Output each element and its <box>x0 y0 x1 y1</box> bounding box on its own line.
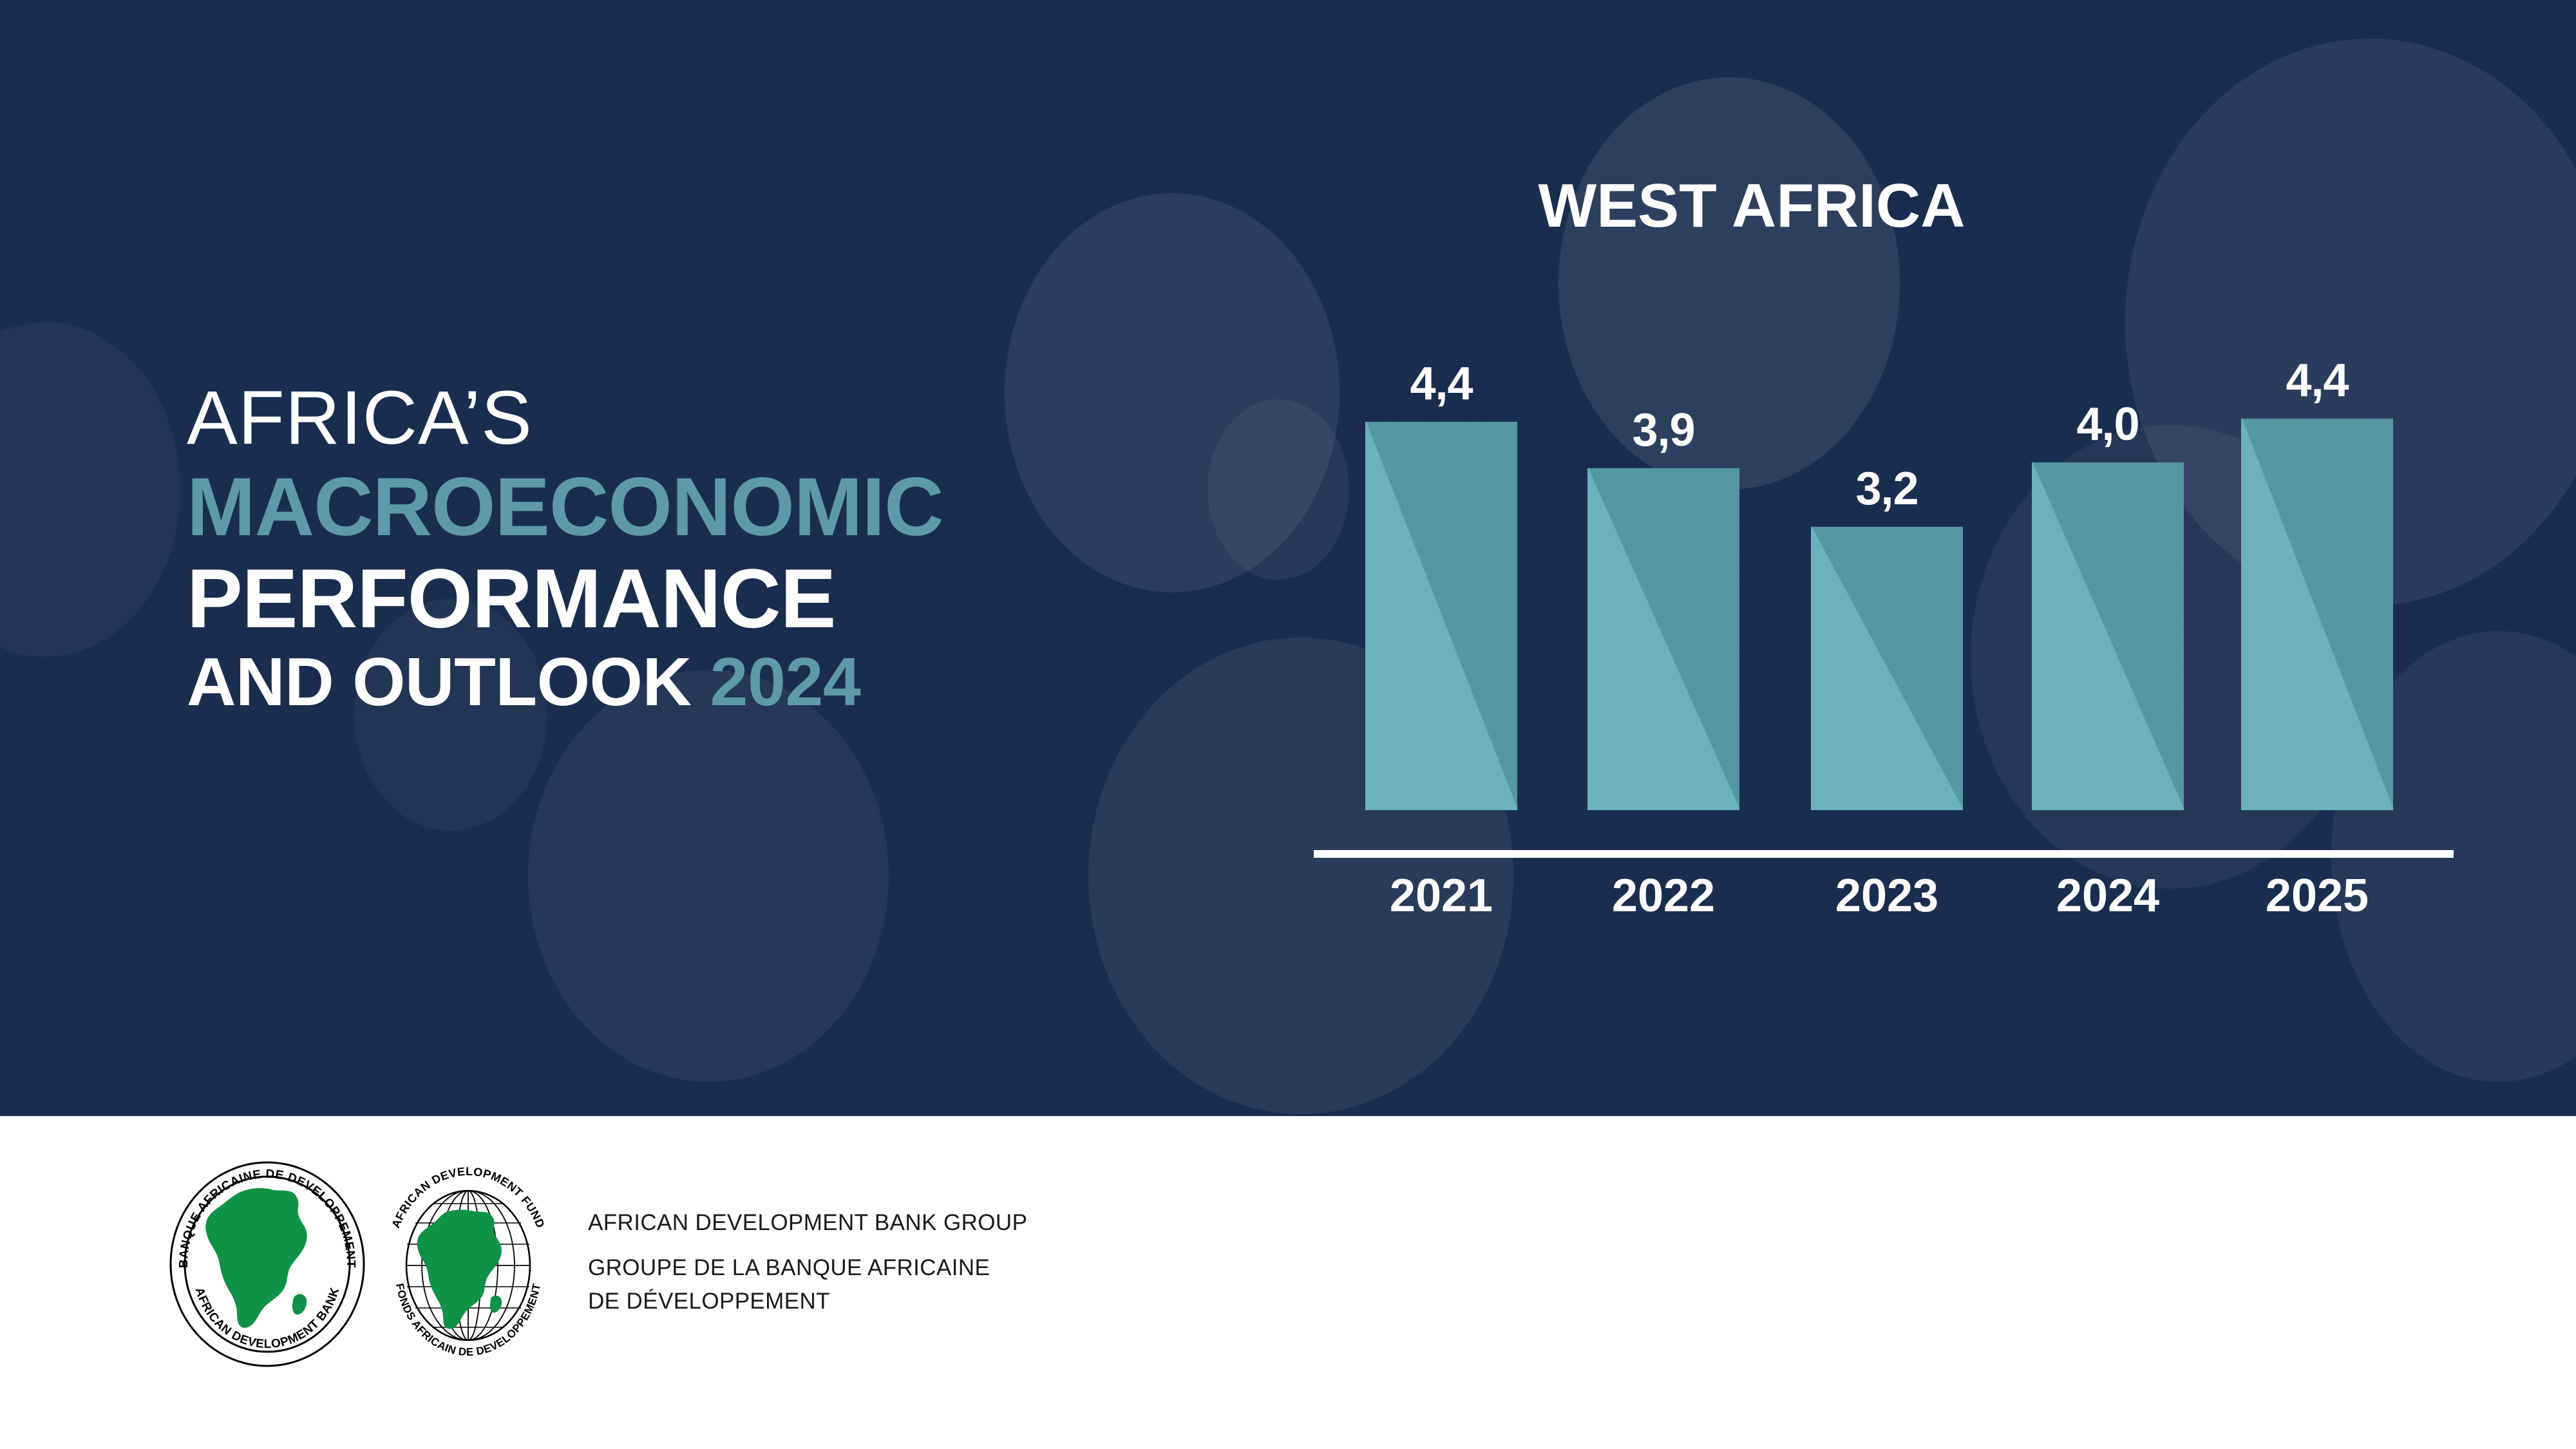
bar-chart: WEST AFRICA 4,4 3,9 3,2 <box>1301 148 2499 940</box>
decor-circle-10 <box>0 322 180 657</box>
bar-value-2022: 3,9 <box>1587 404 1739 457</box>
bar-2022 <box>1587 468 1739 810</box>
report-title-block: AFRICA’S MACROECONOMIC PERFORMANCE AND O… <box>187 380 1121 716</box>
bar-shade <box>1587 468 1739 810</box>
x-tick-2021: 2021 <box>1365 869 1517 922</box>
adf-globe-logo: AFRICAN DEVELOPMENT FUND FONDS AFRICAIN … <box>378 1156 558 1368</box>
title-and-outlook-text: AND OUTLOOK <box>187 644 692 720</box>
afdb-logo-lockup: BANQUE AFRICAINE DE DEVELOPPEMENT AFRICA… <box>164 1156 1027 1368</box>
x-tick-2025: 2025 <box>2241 869 2393 922</box>
bar-shade <box>1365 422 1517 810</box>
bar-shade <box>2241 419 2393 810</box>
org-name-english: AFRICAN DEVELOPMENT BANK GROUP <box>588 1206 1027 1240</box>
footer-panel: BANQUE AFRICAINE DE DEVELOPPEMENT AFRICA… <box>0 1116 2576 1449</box>
bar-2024 <box>2032 462 2184 810</box>
infographic-poster: AFRICA’S MACROECONOMIC PERFORMANCE AND O… <box>0 0 2576 1449</box>
x-tick-2022: 2022 <box>1587 869 1739 922</box>
afdb-seal-logo: BANQUE AFRICAINE DE DEVELOPPEMENT AFRICA… <box>164 1156 370 1368</box>
bar-value-2023: 3,2 <box>1811 462 1963 515</box>
bar-2023 <box>1811 527 1963 810</box>
hero-panel: AFRICA’S MACROECONOMIC PERFORMANCE AND O… <box>0 0 2576 1116</box>
bar-value-2021: 4,4 <box>1365 357 1517 410</box>
chart-bars-layer: 4,4 3,9 3,2 4,0 <box>1301 148 2499 940</box>
bar-shade <box>2032 462 2184 810</box>
x-tick-2024: 2024 <box>2032 869 2184 922</box>
title-line-africas: AFRICA’S <box>187 380 1121 456</box>
title-line-macroeconomic: MACROECONOMIC <box>187 466 1121 549</box>
title-line-and-outlook: AND OUTLOOK 2024 <box>187 648 1121 716</box>
decor-circle-4 <box>528 670 889 1082</box>
bar-shade <box>1811 527 1963 810</box>
title-year-2024: 2024 <box>710 644 861 720</box>
chart-axis-line <box>1314 850 2454 858</box>
bar-2025 <box>2241 419 2393 810</box>
x-tick-2023: 2023 <box>1811 869 1963 922</box>
title-line-performance: PERFORMANCE <box>187 556 1121 640</box>
bar-value-2024: 4,0 <box>2032 398 2184 451</box>
org-name-french-line1: GROUPE DE LA BANQUE AFRICAINE <box>588 1251 1027 1285</box>
bar-2021 <box>1365 422 1517 810</box>
bar-value-2025: 4,4 <box>2241 354 2393 407</box>
org-name-french-line2: DE DÉVELOPPEMENT <box>588 1285 1027 1318</box>
organisation-name-block: AFRICAN DEVELOPMENT BANK GROUP GROUPE DE… <box>588 1206 1027 1318</box>
